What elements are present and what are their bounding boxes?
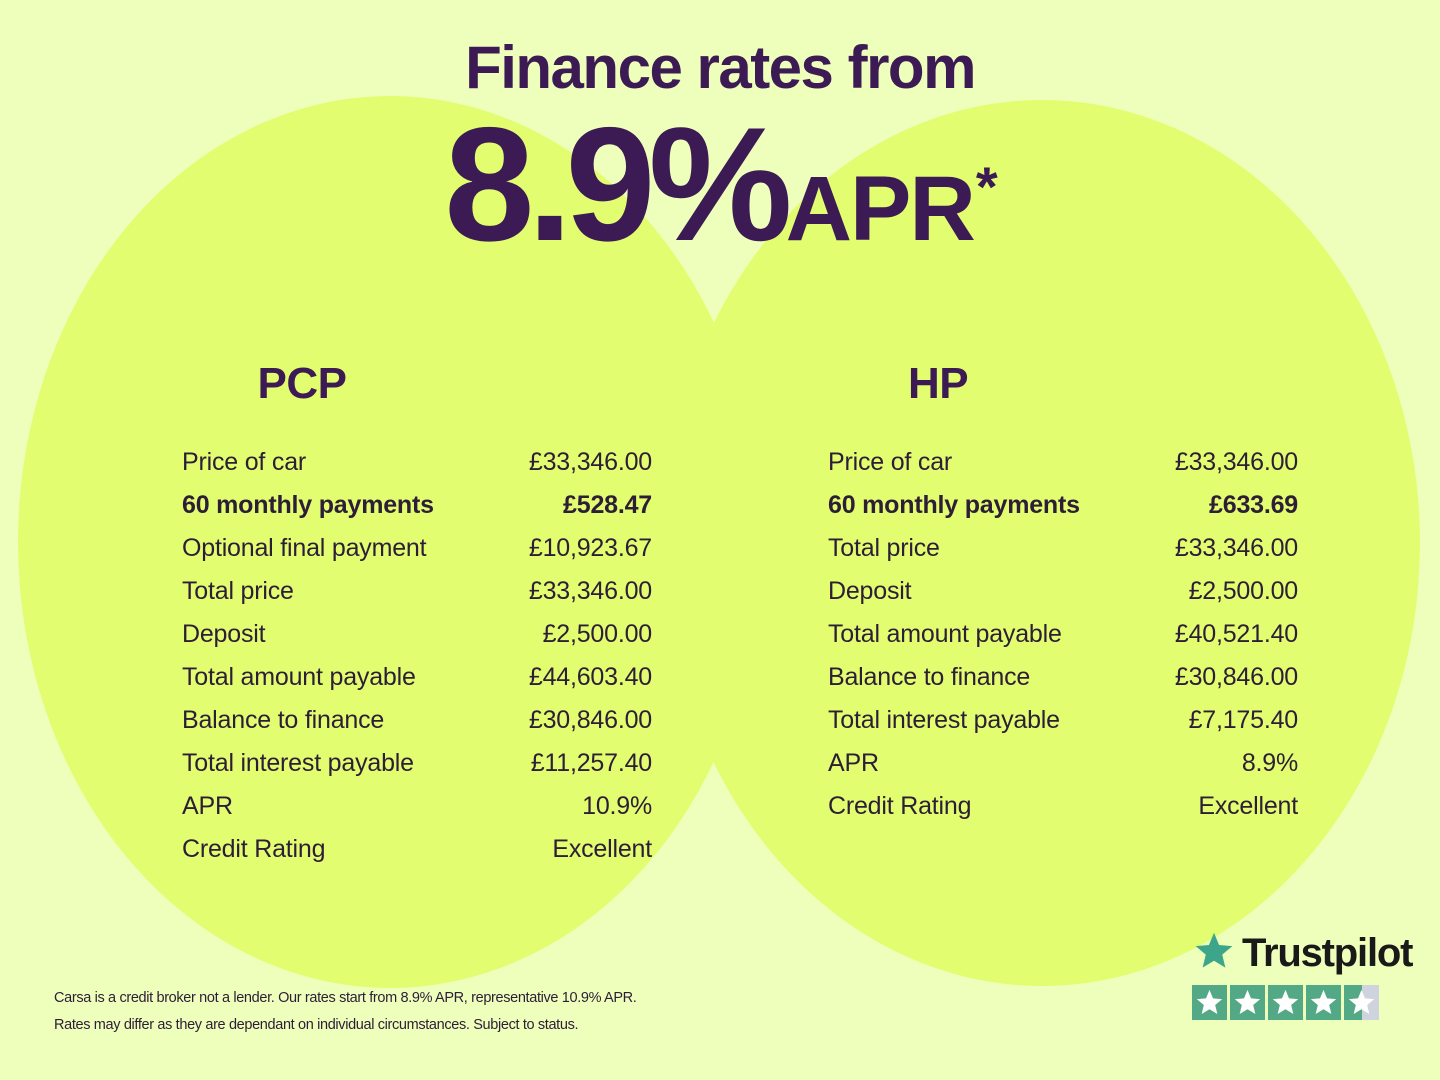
plan-row-label: 60 monthly payments xyxy=(182,493,434,518)
headline-rate: 8.9%APR* xyxy=(0,98,1440,266)
plan-column-hp: HP Price of car£33,346.0060 monthly paym… xyxy=(828,362,1298,837)
plan-row-label: Total price xyxy=(182,579,294,604)
plan-row-label: Total price xyxy=(828,536,940,561)
star-icon xyxy=(1309,988,1338,1017)
plan-row-label: APR xyxy=(182,794,233,819)
plan-row: 60 monthly payments£528.47 xyxy=(182,493,652,536)
plan-row-value: £44,603.40 xyxy=(529,665,652,690)
plan-row: Deposit£2,500.00 xyxy=(182,622,652,665)
plan-row: Balance to finance£30,846.00 xyxy=(828,665,1298,708)
plan-row-value: £2,500.00 xyxy=(1189,579,1298,604)
plan-row-value: 10.9% xyxy=(582,794,652,819)
plan-title-pcp: PCP xyxy=(182,362,652,406)
plan-rows-pcp: Price of car£33,346.0060 monthly payment… xyxy=(182,450,652,880)
plan-row: Total price£33,346.00 xyxy=(828,536,1298,579)
plan-row-label: Total amount payable xyxy=(828,622,1062,647)
plan-row-label: Total interest payable xyxy=(828,708,1060,733)
plan-title-hp: HP xyxy=(828,362,1298,406)
plan-row-value: £30,846.00 xyxy=(1175,665,1298,690)
page-title: Finance rates from xyxy=(0,0,1440,98)
trustpilot-star-box xyxy=(1192,985,1227,1020)
trustpilot-star-box xyxy=(1268,985,1303,1020)
plan-row-value: £33,346.00 xyxy=(529,579,652,604)
plan-row-value: £11,257.40 xyxy=(531,751,652,776)
disclaimer-line-1: Carsa is a credit broker not a lender. O… xyxy=(54,985,814,1012)
plan-row: Price of car£33,346.00 xyxy=(828,450,1298,493)
plan-row-label: Optional final payment xyxy=(182,536,426,561)
header: Finance rates from 8.9%APR* xyxy=(0,0,1440,266)
plan-row: Credit RatingExcellent xyxy=(182,837,652,880)
plan-row-value: Excellent xyxy=(552,837,652,862)
star-icon xyxy=(1233,988,1262,1017)
trustpilot-badge[interactable]: Trustpilot xyxy=(1192,928,1412,1020)
plan-row-label: Credit Rating xyxy=(182,837,325,862)
disclaimer-line-2: Rates may differ as they are dependant o… xyxy=(54,1012,814,1039)
plan-row-value: £7,175.40 xyxy=(1189,708,1298,733)
plan-row-label: Price of car xyxy=(182,450,306,475)
plan-row: Price of car£33,346.00 xyxy=(182,450,652,493)
plan-rows-hp: Price of car£33,346.0060 monthly payment… xyxy=(828,450,1298,837)
plan-row-value: £40,521.40 xyxy=(1175,622,1298,647)
plan-row-value: £33,346.00 xyxy=(529,450,652,475)
plan-row-value: Excellent xyxy=(1198,794,1298,819)
plan-column-pcp: PCP Price of car£33,346.0060 monthly pay… xyxy=(182,362,652,880)
plan-row-label: Balance to finance xyxy=(182,708,384,733)
plan-row: Total amount payable£44,603.40 xyxy=(182,665,652,708)
plan-row-value: £528.47 xyxy=(563,493,652,518)
plan-row: Optional final payment£10,923.67 xyxy=(182,536,652,579)
trustpilot-star-icon xyxy=(1192,930,1236,977)
plan-row-label: Price of car xyxy=(828,450,952,475)
star-icon xyxy=(1195,988,1224,1017)
apr-rate-value: 8.9% xyxy=(444,94,785,275)
trustpilot-rating-stars xyxy=(1192,985,1412,1020)
plan-row: Total amount payable£40,521.40 xyxy=(828,622,1298,665)
plan-row-value: £30,846.00 xyxy=(529,708,652,733)
legal-disclaimer: Carsa is a credit broker not a lender. O… xyxy=(54,985,814,1039)
promo-canvas: Finance rates from 8.9%APR* PCP Price of… xyxy=(0,0,1440,1080)
star-icon xyxy=(1347,988,1376,1017)
plan-row-label: Total interest payable xyxy=(182,751,414,776)
plan-row-label: 60 monthly payments xyxy=(828,493,1080,518)
apr-rate-unit: APR xyxy=(786,158,974,260)
plan-row-value: £10,923.67 xyxy=(529,536,652,561)
plan-row: 60 monthly payments£633.69 xyxy=(828,493,1298,536)
plan-row-value: 8.9% xyxy=(1242,751,1298,776)
plan-row: APR8.9% xyxy=(828,751,1298,794)
trustpilot-star-box xyxy=(1306,985,1341,1020)
plan-row-value: £2,500.00 xyxy=(543,622,652,647)
plan-row-label: Balance to finance xyxy=(828,665,1030,690)
trustpilot-star-box xyxy=(1344,985,1379,1020)
plan-row: Total interest payable£11,257.40 xyxy=(182,751,652,794)
plan-row-label: Deposit xyxy=(828,579,911,604)
plan-row-value: £33,346.00 xyxy=(1175,450,1298,475)
plan-row-value: £633.69 xyxy=(1209,493,1298,518)
footnote-asterisk: * xyxy=(976,155,998,218)
plan-row-label: APR xyxy=(828,751,879,776)
plan-row-label: Total amount payable xyxy=(182,665,416,690)
star-icon xyxy=(1271,988,1300,1017)
plan-row: APR10.9% xyxy=(182,794,652,837)
plan-row-value: £33,346.00 xyxy=(1175,536,1298,561)
plan-row: Total price£33,346.00 xyxy=(182,579,652,622)
plan-row: Credit RatingExcellent xyxy=(828,794,1298,837)
plan-row: Deposit£2,500.00 xyxy=(828,579,1298,622)
plan-row: Total interest payable£7,175.40 xyxy=(828,708,1298,751)
trustpilot-name: Trustpilot xyxy=(1242,933,1412,973)
plan-row: Balance to finance£30,846.00 xyxy=(182,708,652,751)
plan-row-label: Credit Rating xyxy=(828,794,971,819)
plan-row-label: Deposit xyxy=(182,622,265,647)
trustpilot-star-box xyxy=(1230,985,1265,1020)
trustpilot-wordmark: Trustpilot xyxy=(1192,928,1412,978)
